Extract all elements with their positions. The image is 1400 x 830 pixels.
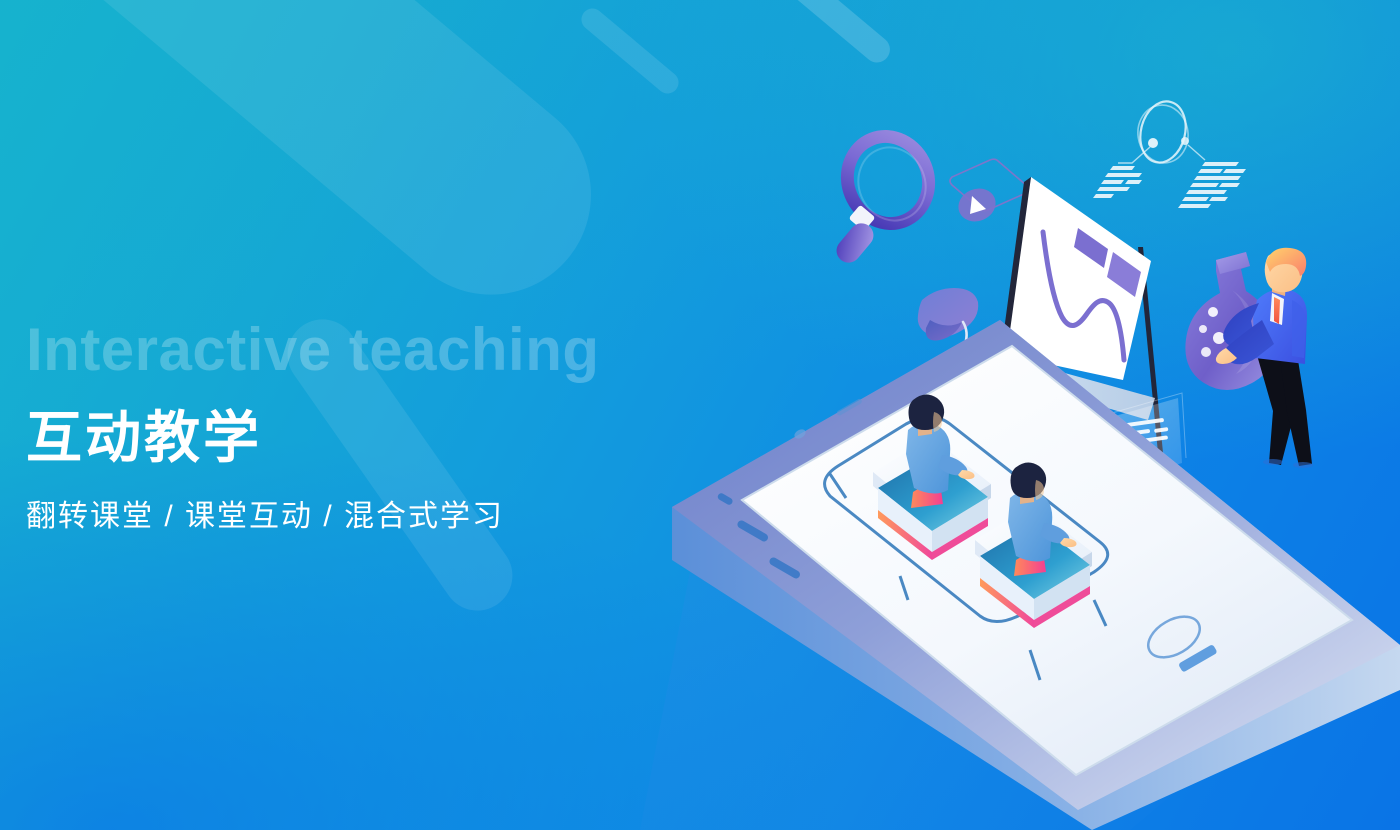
headline-chinese: 互动教学	[26, 410, 600, 466]
subheadline-chinese: 翻转课堂 / 课堂互动 / 混合式学习	[26, 502, 600, 532]
banner-root: Interactive teaching 互动教学 翻转课堂 / 课堂互动 / …	[0, 0, 1400, 830]
decorative-bar-large	[0, 0, 632, 336]
graduation-cap-icon	[918, 288, 978, 351]
hero-text-block: Interactive teaching 互动教学 翻转课堂 / 课堂互动 / …	[24, 320, 600, 532]
student-figure-front	[975, 462, 1092, 628]
decorative-streak-small-1	[577, 4, 683, 98]
flask-icon	[1185, 252, 1276, 390]
tablet-shadow	[640, 520, 1310, 830]
teacher-figure	[1185, 248, 1313, 468]
headline-english: Interactive teaching	[26, 320, 600, 380]
video-play-icon	[950, 159, 1028, 227]
abstract-text-lines-left	[1093, 166, 1142, 198]
whiteboard-easel	[996, 177, 1164, 463]
atom-orbit-icon	[1118, 97, 1205, 168]
chat-bubble-icon	[1108, 393, 1186, 492]
abstract-text-lines-right	[1178, 162, 1246, 208]
decorative-streak-small-2	[760, 0, 895, 68]
student-figure-back	[873, 394, 991, 560]
tablet-device	[672, 320, 1400, 830]
magnifier-icon	[832, 124, 942, 267]
